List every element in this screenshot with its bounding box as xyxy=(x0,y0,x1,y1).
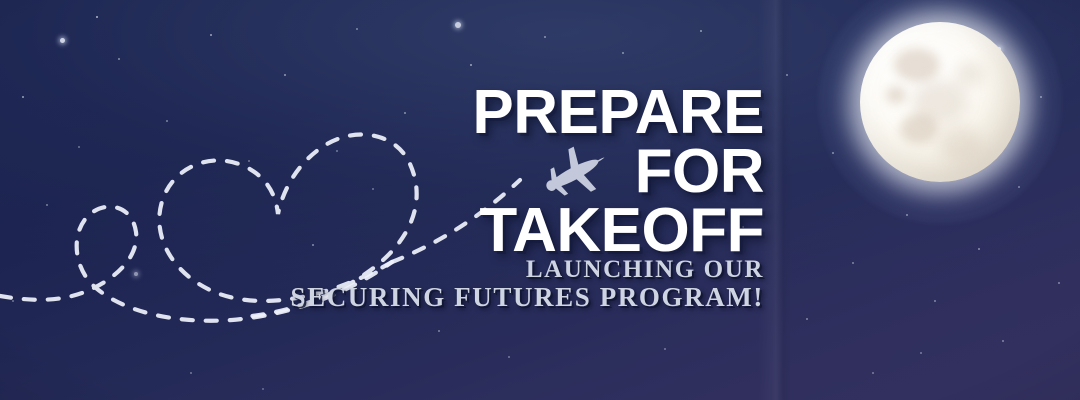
subtitle-line-1: LAUNCHING OUR xyxy=(0,256,764,283)
subtitle-line-2: SECURING FUTURES PROGRAM! xyxy=(0,283,764,312)
page-title: PREPARE FOR TAKEOFF xyxy=(0,84,772,261)
moon xyxy=(860,22,1020,182)
headline-line-2: FOR xyxy=(0,143,764,202)
headline-line-1: PREPARE xyxy=(0,84,764,143)
prepare-for-takeoff-banner: PREPARE FOR TAKEOFF LAUNCHING OUR SECURI… xyxy=(0,0,1080,400)
subtitle: LAUNCHING OUR SECURING FUTURES PROGRAM! xyxy=(0,256,772,312)
moon-body xyxy=(860,22,1020,182)
headline-line-3: TAKEOFF xyxy=(0,202,764,261)
